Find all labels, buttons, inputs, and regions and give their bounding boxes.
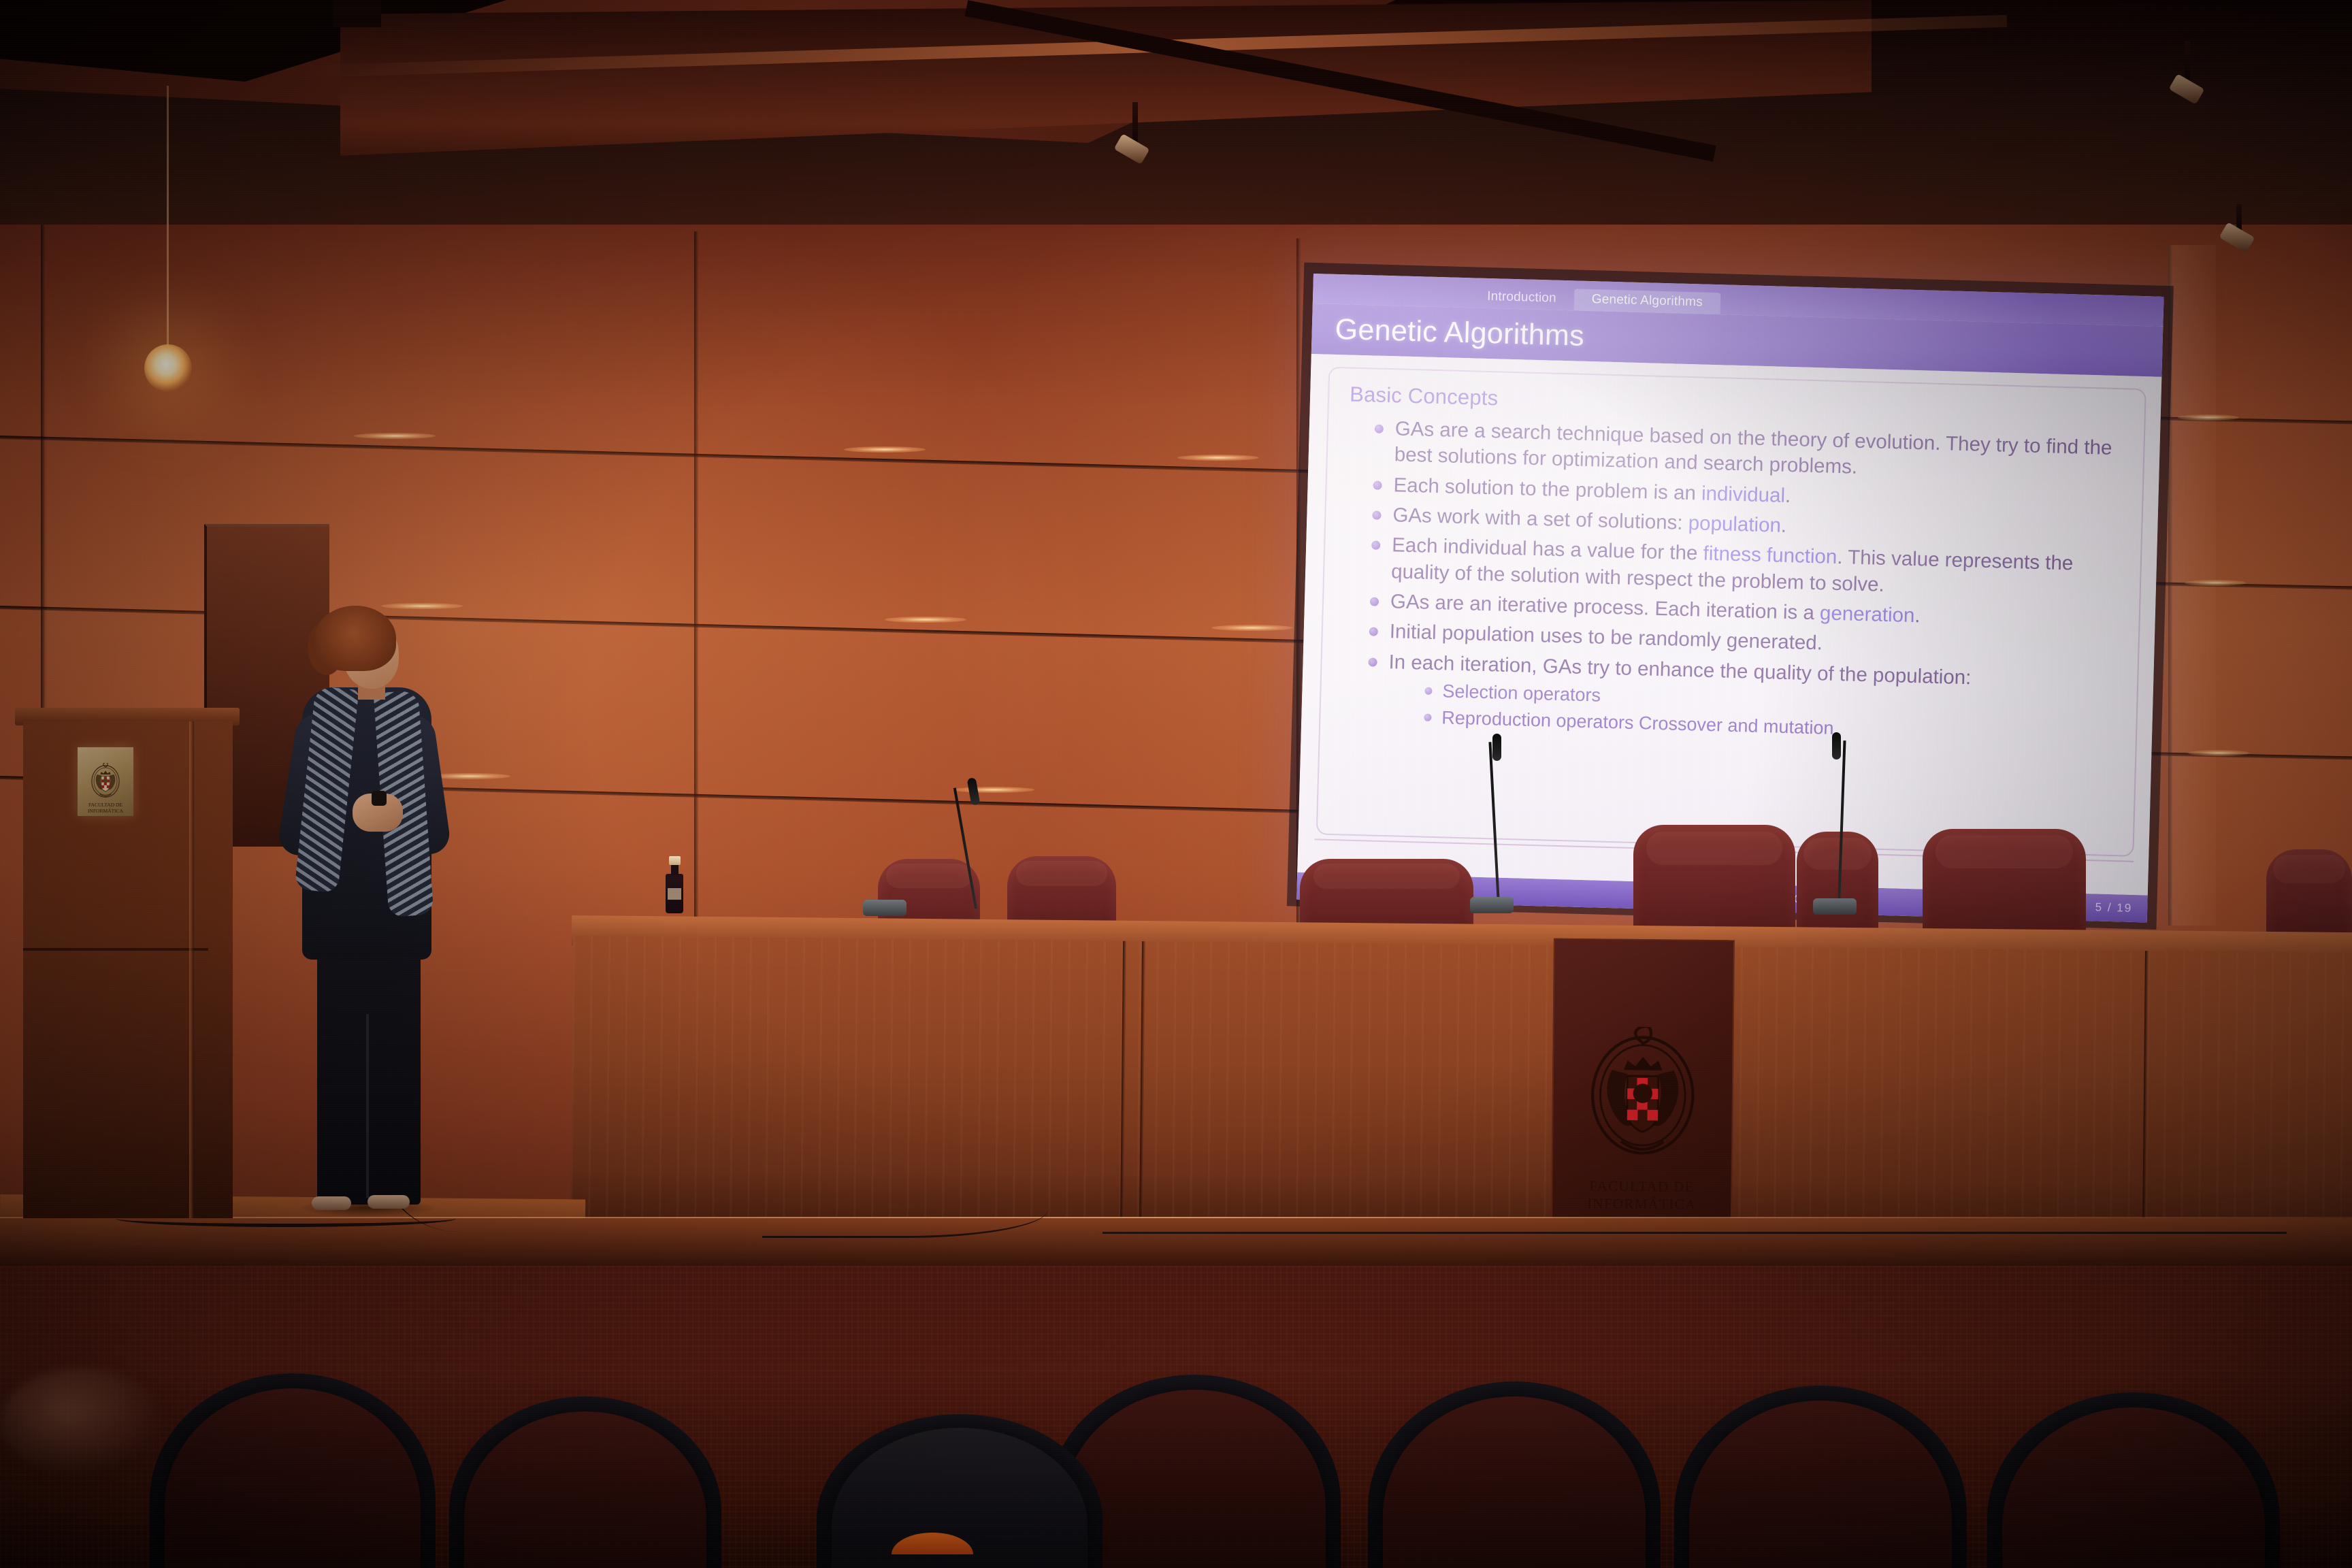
bullet-text: GAs are a search technique based on the … (1394, 417, 2112, 478)
presenter-shoe-left (312, 1196, 351, 1210)
floor-cable (762, 1181, 1048, 1238)
pendant-light-cord (167, 86, 169, 358)
lectern-plaque-line2: INFORMÁTICA (88, 808, 123, 814)
bullet-keyword: population (1688, 512, 1781, 537)
microphone-base (863, 900, 906, 916)
lectern-panel-seam (23, 948, 208, 951)
track-light-pole (2185, 41, 2190, 82)
bullet-item: In each iteration, GAs try to enhance th… (1367, 649, 2117, 748)
microphone-base (1470, 897, 1514, 913)
bullet-keyword: individual (1701, 482, 1786, 506)
ceiling-beam (333, 0, 381, 27)
recessed-light-icon (844, 446, 926, 453)
presentation-clicker (372, 791, 387, 806)
bullet-keyword: fitness function (1703, 542, 1837, 568)
recessed-light-icon (953, 787, 1034, 793)
bullet-text: Initial population uses to be randomly g… (1389, 621, 1823, 655)
presenter-leg-seam (366, 1014, 369, 1198)
pendant-light-bulb-icon (144, 344, 192, 392)
bullet-text: GAs are an iterative process. Each itera… (1390, 590, 1820, 624)
bullet-text-tail: . (1785, 485, 1791, 507)
dais-faculty-plaque: FACULTAD DE INFORMÁTICA (1551, 938, 1735, 1222)
presenter-shoe-right (367, 1195, 410, 1209)
floor-cable (1102, 1199, 2287, 1234)
presenter-hair (314, 606, 396, 671)
recessed-light-icon (2188, 750, 2249, 756)
microphone-base (1813, 898, 1857, 915)
complutense-crest-icon (88, 763, 123, 802)
footer-page-number: 5 / 19 (2095, 900, 2132, 915)
dais-panel-seam (1120, 941, 1126, 1241)
auditorium-photo: Introduction Genetic Algorithms Genetic … (0, 0, 2352, 1568)
nav-tab-introduction[interactable]: Introduction (1469, 286, 1574, 310)
microphone-head-icon (1832, 732, 1841, 759)
bullet-text: Each solution to the problem is an (1393, 474, 1701, 504)
dais-panel-seam (1139, 941, 1145, 1241)
presenter-legs (317, 932, 421, 1205)
recessed-light-icon (2185, 580, 2246, 586)
slide-title: Genetic Algorithms (1335, 312, 1584, 353)
microphone-head-icon (1492, 734, 1501, 761)
recessed-light-icon (1211, 625, 1293, 631)
bullet-text: GAs work with a set of solutions: (1392, 504, 1688, 534)
recessed-light-icon (2178, 414, 2239, 421)
bullet-text-tail: . (1780, 514, 1786, 537)
track-light-pole (1132, 102, 1138, 143)
bullet-list: GAs are a search technique based on the … (1328, 414, 2130, 749)
recessed-light-icon (1177, 455, 1259, 461)
bottle-label (668, 888, 681, 900)
wall-seam (694, 231, 698, 966)
bullet-text: Each individual has a value for the (1392, 534, 1703, 565)
bullet-keyword: generation (1820, 602, 1915, 627)
bullet-text-tail: . (1914, 604, 1921, 627)
recessed-light-icon (354, 433, 436, 439)
audience-member-silhouette (0, 1368, 163, 1477)
lectern-side-edge (189, 721, 194, 1218)
dais-plaque-line1: FACULTAD DE (1589, 1177, 1695, 1196)
lectern-faculty-plaque: FACULTAD DE INFORMÁTICA (78, 747, 133, 816)
presenter (272, 606, 456, 1225)
complutense-crest-icon (1584, 1026, 1701, 1174)
slide-content: Basic Concepts GAs are a search techniqu… (1297, 354, 2161, 896)
recessed-light-icon (885, 617, 966, 623)
bottle-cap (669, 856, 681, 865)
